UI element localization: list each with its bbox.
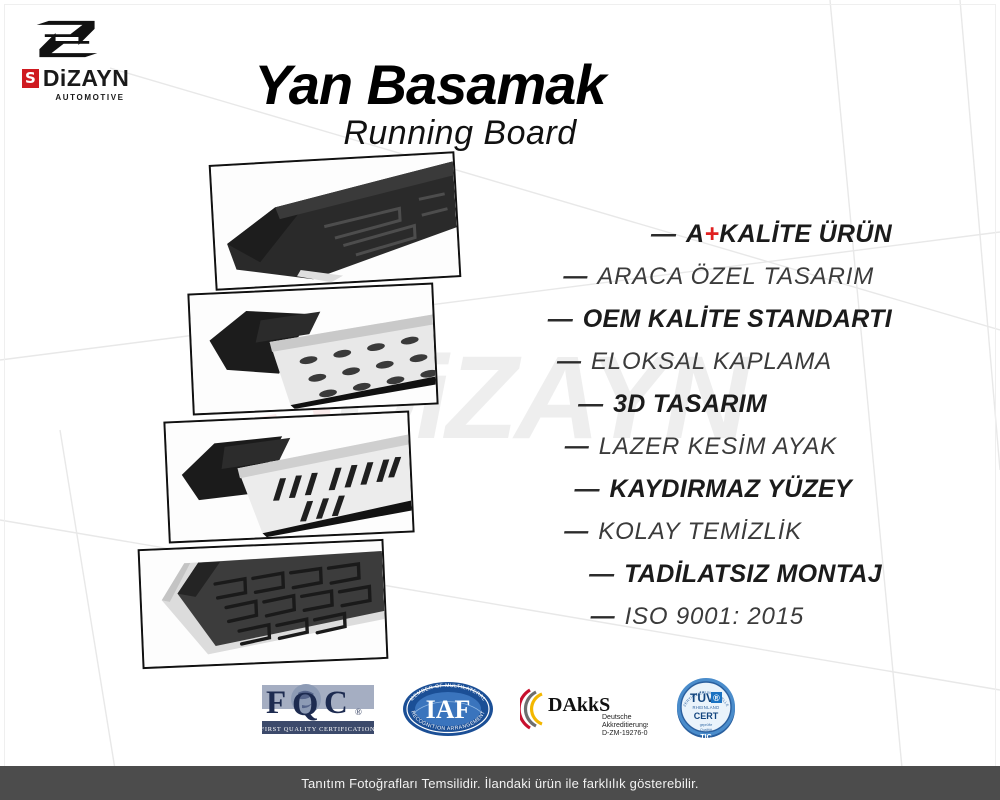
feature-item: —OEM KALİTE STANDARTI — [332, 307, 892, 332]
svg-text:RHEINLAND: RHEINLAND — [693, 705, 720, 710]
fqc-certification-badge: F Q C ® FIRST QUALITY CERTIFICATION — [260, 679, 376, 739]
feature-label: ELOKSAL KAPLAMA — [591, 350, 832, 374]
tuv-cert-word: CERT — [694, 711, 719, 721]
feature-dash-icon: — — [589, 562, 614, 587]
svg-text:C: C — [324, 685, 348, 721]
feature-item: —LAZER KESİM AYAK — [332, 435, 892, 459]
feature-item: —TADİLATSIZ MONTAJ — [332, 562, 892, 587]
certification-badges: F Q C ® FIRST QUALITY CERTIFICATION MEMB… — [0, 676, 1000, 742]
page-subtitle: Running Board — [0, 114, 1000, 153]
feature-dash-icon: — — [578, 392, 603, 417]
feature-label: 3D TASARIM — [613, 392, 767, 417]
feature-label: TADİLATSIZ MONTAJ — [624, 562, 882, 587]
feature-item: —A+KALİTE ÜRÜN — [332, 222, 892, 247]
feature-item: —3D TASARIM — [332, 392, 892, 417]
feature-dash-icon: — — [575, 477, 600, 502]
feature-list: —A+KALİTE ÜRÜN—ARACA ÖZEL TASARIM—OEM KA… — [332, 222, 892, 647]
svg-text:Akkreditierungsstelle: Akkreditierungsstelle — [602, 722, 648, 729]
svg-text:geprüfte: geprüfte — [700, 723, 713, 727]
feature-label: ARACA ÖZEL TASARIM — [597, 265, 874, 289]
feature-label: ISO 9001: 2015 — [625, 605, 804, 629]
feature-label: KAYDIRMAZ YÜZEY — [610, 477, 852, 502]
feature-label: KOLAY TEMİZLİK — [598, 520, 802, 544]
footer-disclaimer-bar: Tanıtım Fotoğrafları Temsilidir. İlandak… — [0, 766, 1000, 800]
feature-plus-accent: + — [704, 220, 719, 248]
feature-label: A+KALİTE ÜRÜN — [686, 222, 892, 247]
iaf-certification-badge: MEMBER OF MULTILATERAL RECOGNITION ARRAN… — [400, 679, 496, 739]
feature-dash-icon: — — [565, 435, 589, 459]
tuv-cert-badge: ZERTIFIZIERUNGSSTELLE TÜV ® RHEINLAND CE… — [672, 676, 740, 742]
svg-text:Qualität: Qualität — [700, 728, 712, 732]
svg-text:Deutsche: Deutsche — [602, 714, 632, 721]
feature-dash-icon: — — [651, 222, 676, 247]
feature-item: —ELOKSAL KAPLAMA — [332, 350, 892, 374]
feature-label: LAZER KESİM AYAK — [599, 435, 837, 459]
feature-item: —ISO 9001: 2015 — [332, 605, 892, 629]
feature-item: —KOLAY TEMİZLİK — [332, 520, 892, 544]
product-banner: SDiZAYN S DiZAYN AUTOMOTIVE Yan Basamak … — [0, 0, 1000, 800]
tuv-title: TÜV — [690, 690, 714, 705]
feature-dash-icon: — — [564, 520, 588, 544]
feature-dash-icon: — — [591, 605, 615, 629]
footer-disclaimer-text: Tanıtım Fotoğrafları Temsilidir. İlandak… — [301, 776, 699, 791]
svg-text:Q: Q — [292, 686, 318, 723]
svg-text:®: ® — [713, 693, 720, 703]
page-title: Yan Basamak — [0, 52, 1000, 117]
feature-dash-icon: — — [557, 350, 581, 374]
feature-item: —KAYDIRMAZ YÜZEY — [332, 477, 892, 502]
iaf-title: IAF — [426, 695, 471, 724]
feature-dash-icon: — — [563, 265, 587, 289]
dakks-title: DAkkS — [548, 694, 610, 716]
fqc-caption: FIRST QUALITY CERTIFICATION — [261, 726, 376, 733]
dakks-certification-badge: DAkkS Deutsche Akkreditierungsstelle D-Z… — [520, 680, 648, 738]
svg-text:®: ® — [355, 707, 362, 717]
svg-text:TIC: TIC — [700, 734, 711, 741]
svg-text:F: F — [266, 685, 286, 721]
feature-dash-icon: — — [548, 307, 573, 332]
feature-item: —ARACA ÖZEL TASARIM — [332, 265, 892, 289]
svg-text:D-ZM-19276-01-00: D-ZM-19276-01-00 — [602, 730, 648, 737]
feature-label: OEM KALİTE STANDARTI — [583, 307, 892, 332]
